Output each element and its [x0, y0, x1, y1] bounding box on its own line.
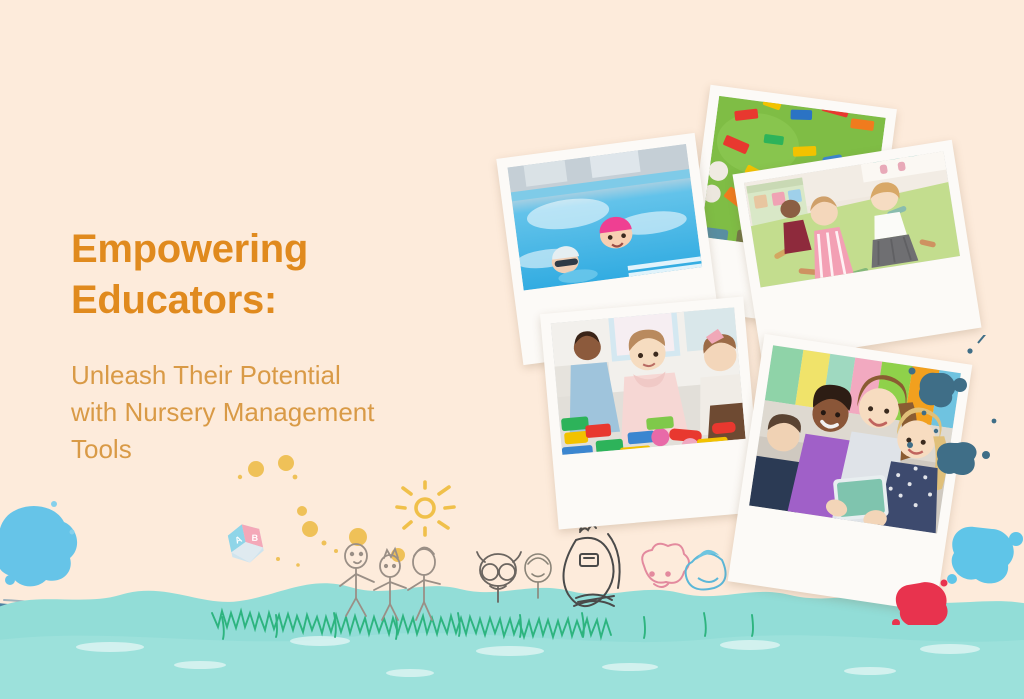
hero-banner: A B: [0, 0, 1024, 699]
svg-text:A: A: [233, 534, 244, 546]
polaroid-teacher-with-tablet: [728, 334, 973, 612]
page-title: Empowering Educators:: [71, 224, 511, 326]
alphabet-block-cube: A B: [222, 518, 270, 570]
photo-swimming-lesson: [508, 144, 703, 290]
hero-text-block: Empowering Educators: Unleash Their Pote…: [71, 224, 511, 326]
photo-teacher-with-tablet: [749, 345, 961, 533]
photo-nursery-playroom: [744, 151, 960, 287]
sun-doodle: [392, 480, 458, 540]
photo-block-play: [551, 307, 746, 455]
polaroid-block-play: [540, 297, 762, 530]
blue-splatter-left: [0, 492, 184, 632]
svg-text:B: B: [251, 533, 258, 543]
gold-dot-speckles: [190, 455, 450, 585]
polaroid-nursery-playroom: [733, 140, 982, 362]
page-subtitle: Unleash Their Potential with Nursery Man…: [71, 357, 501, 469]
